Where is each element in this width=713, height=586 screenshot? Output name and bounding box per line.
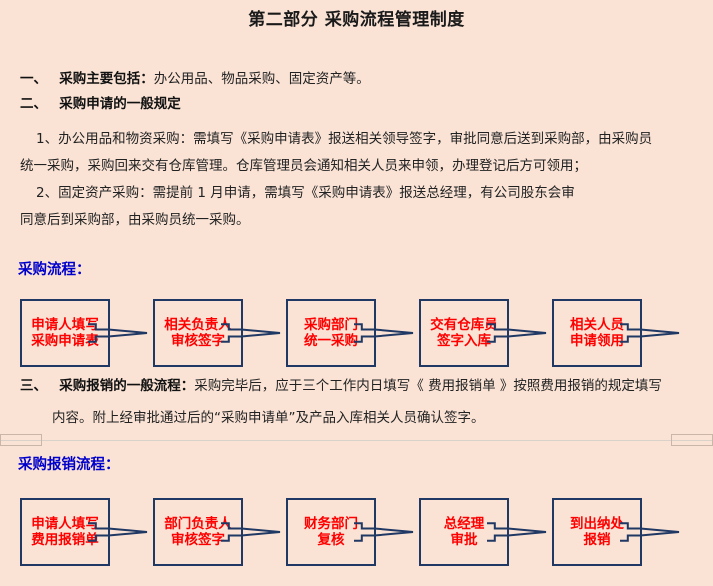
section-2-number: 二、 <box>20 96 47 112</box>
section-1-lead: 采购主要包括： <box>59 71 154 87</box>
flow2-label: 采购报销流程： <box>18 453 120 474</box>
section-2-sub2-line1: 2、固定资产采购：需提前 1 月申请，需填写《采购申请表》报送总经理，有公司股东… <box>36 181 575 201</box>
section-2-sub1-line2: 统一采购，采购回来交有仓库管理。仓库管理员会通知相关人员来申领，办理登记后方可领… <box>20 154 587 174</box>
document-page: 第二部分 采购流程管理制度 一、 采购主要包括：办公用品、物品采购、固定资产等。… <box>0 0 713 586</box>
flow-step-line1: 到出纳处 <box>570 516 624 532</box>
page-break-mark-right <box>671 434 713 446</box>
section-item-2: 二、 采购申请的一般规定 <box>20 96 181 113</box>
section-2-sub1-line1: 1、办公用品和物资采购：需填写《采购申请表》报送相关领导签字，审批同意后送到采购… <box>36 127 652 147</box>
flow-arrow-icon <box>487 510 547 554</box>
flow-step-line2: 申请领用 <box>570 333 624 349</box>
flow-step-line2: 统一采购 <box>304 333 358 349</box>
flow-arrow-icon <box>354 311 414 355</box>
page-break-mark-left <box>0 434 42 446</box>
section-2-sub2-line2: 同意后到采购部，由采购员统一采购。 <box>20 208 250 228</box>
flow-step-line1: 相关人员 <box>570 317 624 333</box>
flow-step-line2: 报销 <box>584 532 611 548</box>
page-break-line <box>0 440 713 441</box>
flow-step-line2: 复核 <box>318 532 345 548</box>
section-item-1: 一、 采购主要包括：办公用品、物品采购、固定资产等。 <box>20 71 370 88</box>
flow-step-line1: 总经理 <box>444 516 485 532</box>
section-2-lead: 采购申请的一般规定 <box>59 96 181 112</box>
flow-arrow-icon <box>221 311 281 355</box>
flow-step-line2: 审核签字 <box>171 532 225 548</box>
flow-arrow-icon <box>354 510 414 554</box>
section-1-text: 办公用品、物品采购、固定资产等。 <box>154 71 370 87</box>
flow-arrow-icon <box>620 510 680 554</box>
flow-arrow-icon <box>88 311 148 355</box>
flow-step-line2: 签字入库 <box>437 333 491 349</box>
section-item-3: 三、 采购报销的一般流程：采购完毕后，应于三个工作内日填写《 费用报销单 》按照… <box>20 378 662 395</box>
section-3-number: 三、 <box>20 378 47 394</box>
flow1-label: 采购流程： <box>18 258 91 279</box>
flow-step-line2: 审批 <box>451 532 478 548</box>
flow-arrow-icon <box>487 311 547 355</box>
page-title: 第二部分 采购流程管理制度 <box>0 5 713 30</box>
flow-arrow-icon <box>620 311 680 355</box>
flow-step-line1: 财务部门 <box>304 516 358 532</box>
section-3-line2: 内容。附上经审批通过后的“采购申请单”及产品入库相关人员确认签字。 <box>52 406 485 426</box>
flow-arrow-icon <box>88 510 148 554</box>
flow-step-line1: 采购部门 <box>304 317 358 333</box>
section-1-number: 一、 <box>20 71 47 87</box>
section-3-line1: 采购完毕后，应于三个工作内日填写《 费用报销单 》按照费用报销的规定填写 <box>194 378 662 394</box>
flow-step-line2: 审核签字 <box>171 333 225 349</box>
section-3-lead: 采购报销的一般流程： <box>59 378 194 394</box>
flow-arrow-icon <box>221 510 281 554</box>
